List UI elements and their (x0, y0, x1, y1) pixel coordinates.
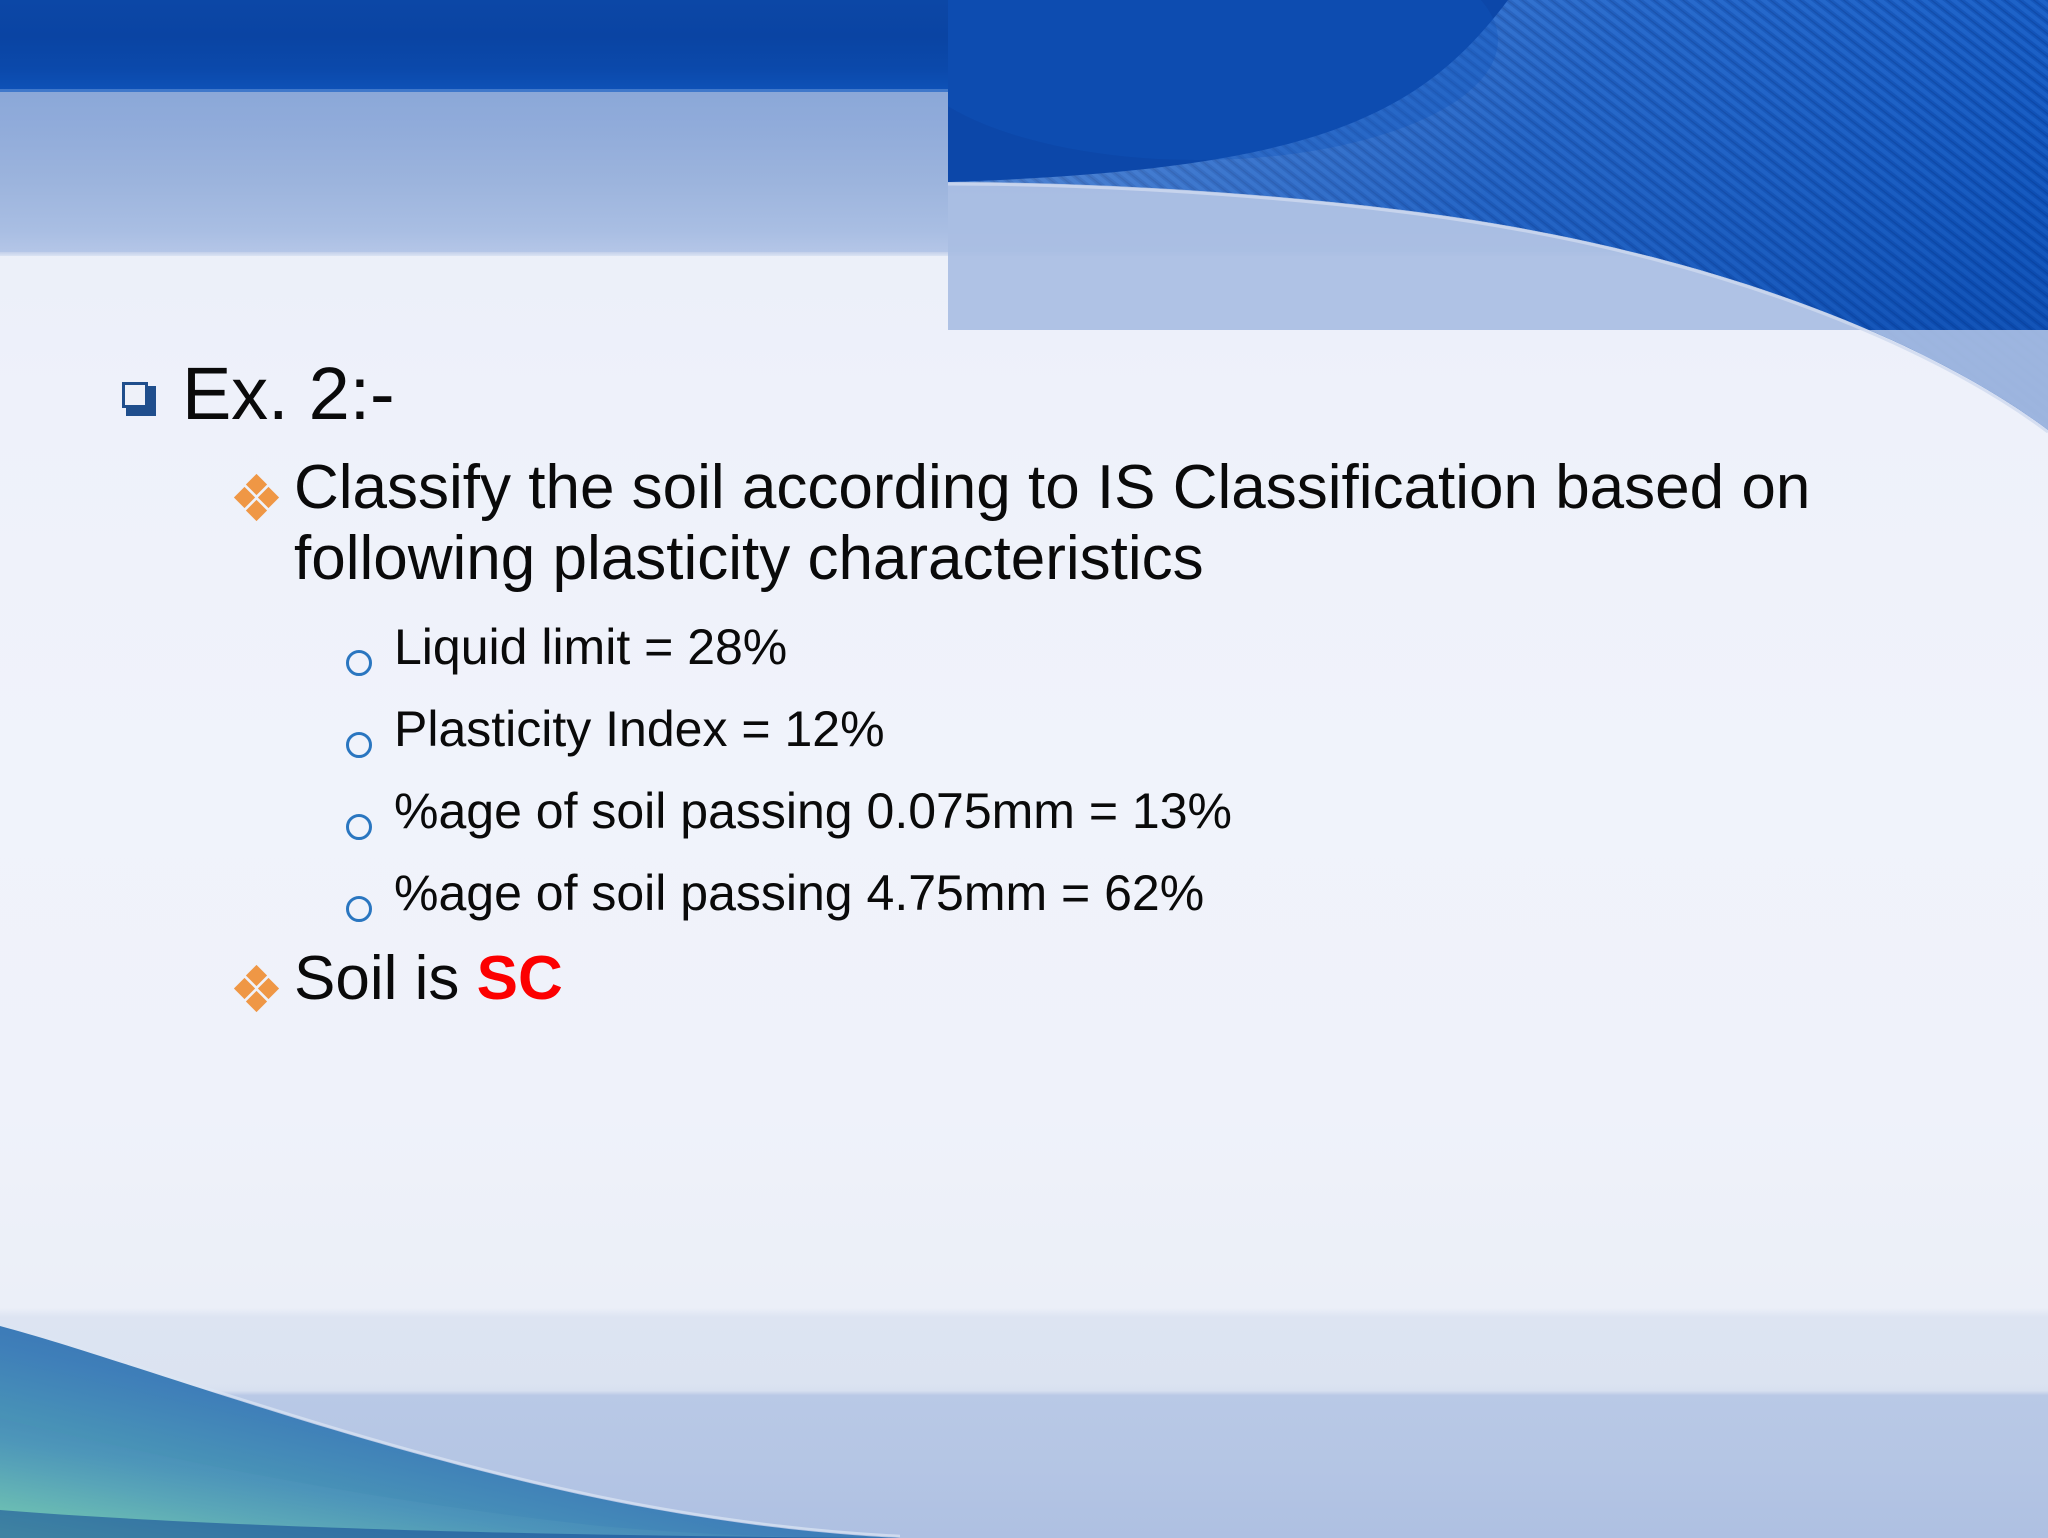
blue-hollow-circle-bullet-icon (346, 650, 372, 676)
blue-hollow-circle-bullet-icon (346, 732, 372, 758)
slide-content: Ex. 2:- Classify the soil according to I… (0, 0, 2048, 1538)
list-item-level3: %age of soil passing 0.075mm = 13% (108, 784, 1988, 840)
content-placeholder: Ex. 2:- Classify the soil according to I… (108, 356, 1988, 1014)
answer-prefix-text: Soil is (294, 944, 477, 1013)
list-item-level1: Ex. 2:- (108, 356, 1988, 431)
list-item-level3: %age of soil passing 4.75mm = 62% (108, 866, 1988, 922)
list-item-level2-answer: Soil is SC (108, 944, 1988, 1014)
answer-line: Soil is SC (294, 944, 563, 1014)
list-item-level2-question: Classify the soil according to IS Classi… (108, 453, 1988, 593)
list-item-level3: Plasticity Index = 12% (108, 702, 1988, 758)
list-item-level3: Liquid limit = 28% (108, 620, 1988, 676)
presentation-slide: Ex. 2:- Classify the soil according to I… (0, 0, 2048, 1538)
question-text: Classify the soil according to IS Classi… (294, 453, 1988, 593)
blue-hollow-circle-bullet-icon (346, 896, 372, 922)
orange-diamond-cluster-bullet-icon (236, 475, 278, 521)
blue-hollow-circle-bullet-icon (346, 814, 372, 840)
hollow-square-bullet-icon (122, 382, 156, 416)
answer-classification-code: SC (477, 944, 563, 1013)
slide-title-text: Ex. 2:- (182, 356, 394, 431)
given-value-text: Liquid limit = 28% (394, 620, 787, 675)
orange-diamond-cluster-bullet-icon (236, 966, 278, 1012)
given-value-text: %age of soil passing 4.75mm = 62% (394, 866, 1204, 921)
given-value-text: %age of soil passing 0.075mm = 13% (394, 784, 1232, 839)
given-value-text: Plasticity Index = 12% (394, 702, 885, 757)
